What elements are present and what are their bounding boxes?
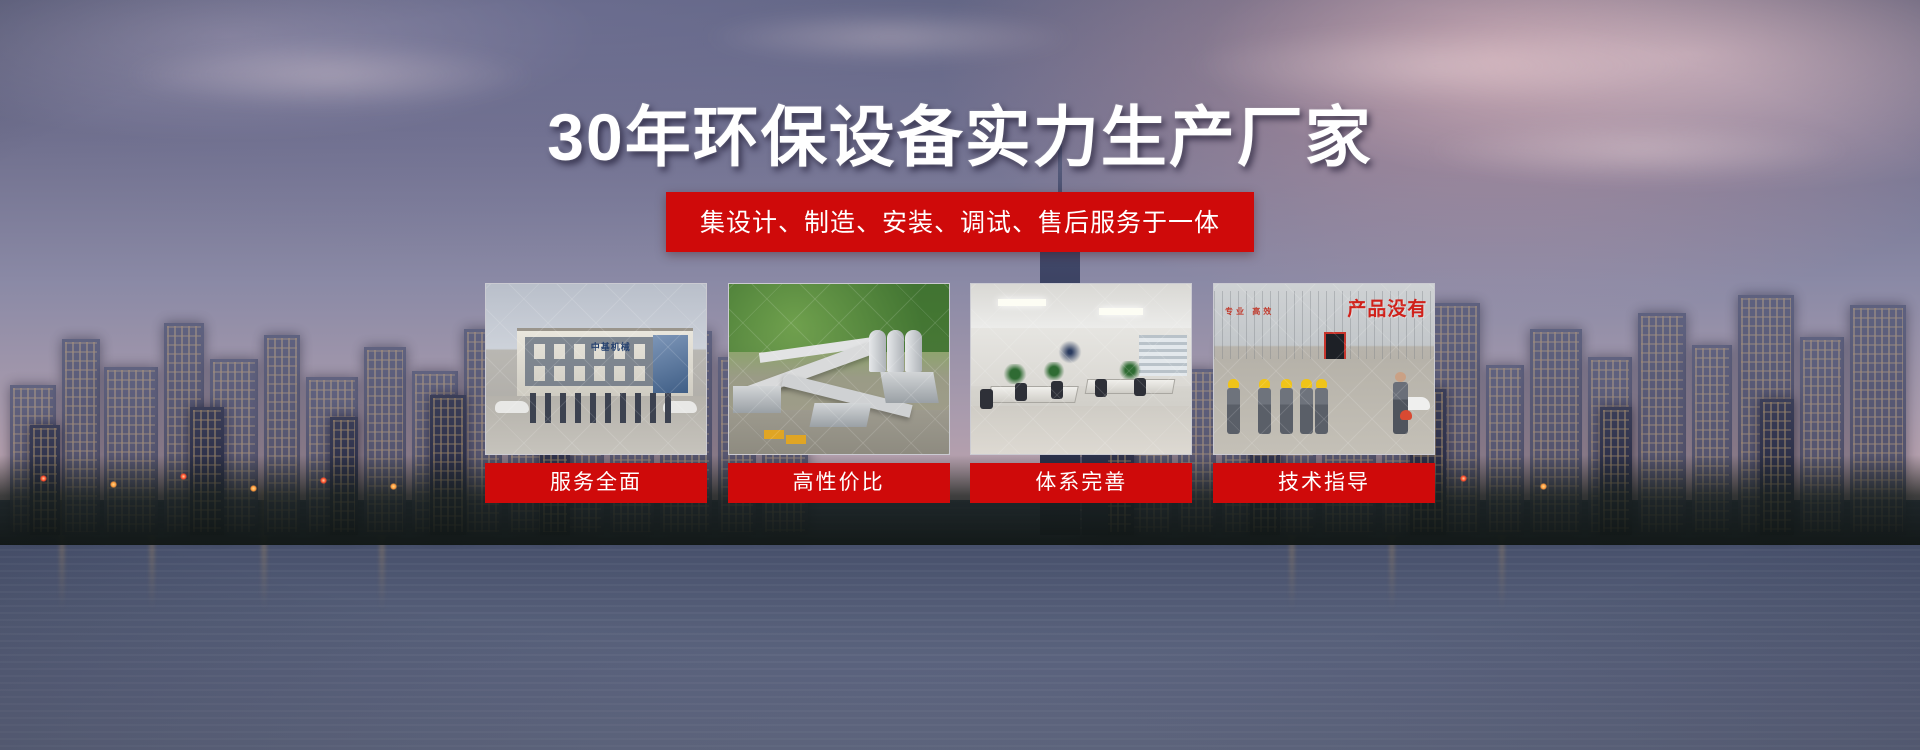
card-photo-office-building: 中基机械 [485, 283, 707, 455]
feature-card[interactable]: 产品没有 专业 高效 技术指导 [1213, 283, 1435, 503]
card-photo-plant-aerial [728, 283, 950, 455]
factory-wall-sign: 产品没有 [1347, 294, 1427, 321]
card-label: 体系完善 [970, 463, 1192, 503]
feature-card[interactable]: 中基机械 服务全面 [485, 283, 707, 503]
card-label: 高性价比 [728, 463, 950, 503]
card-label: 服务全面 [485, 463, 707, 503]
feature-card[interactable]: 体系完善 [970, 283, 1192, 503]
factory-wall-slogan: 专业 高效 [1225, 306, 1274, 317]
subtitle-banner: 集设计、制造、安装、调试、售后服务于一体 [666, 192, 1254, 252]
card-photo-office-room [970, 283, 1192, 455]
card-label: 技术指导 [1213, 463, 1435, 503]
page-title: 30年环保设备实力生产厂家 [0, 104, 1920, 170]
building-sign-text: 中基机械 [591, 340, 631, 353]
card-photo-worker-training: 产品没有 专业 高效 [1213, 283, 1435, 455]
feature-card-list: 中基机械 服务全面 [485, 283, 1435, 503]
hero-banner: 30年环保设备实力生产厂家 集设计、制造、安装、调试、售后服务于一体 中基机械 [0, 0, 1920, 750]
feature-card[interactable]: 高性价比 [728, 283, 950, 503]
banner-content: 30年环保设备实力生产厂家 集设计、制造、安装、调试、售后服务于一体 中基机械 [0, 0, 1920, 750]
